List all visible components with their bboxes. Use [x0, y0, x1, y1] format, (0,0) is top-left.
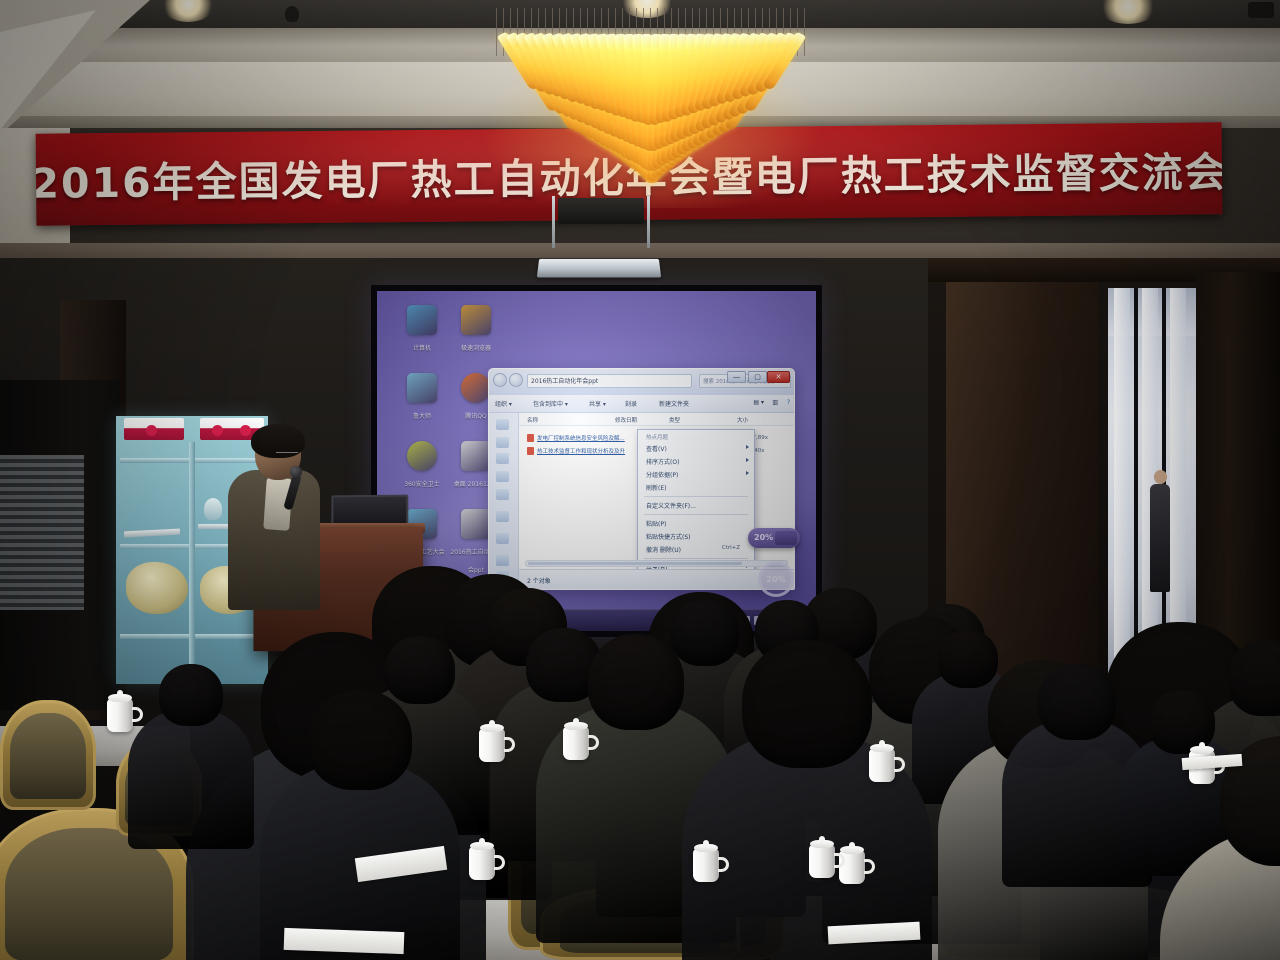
context-menu-item-label: 排序方式(O) — [646, 459, 679, 466]
teacup-knob — [479, 838, 485, 845]
teacup-knob — [819, 836, 825, 843]
explorer-toolbar[interactable]: 组织 ▾包含到库中 ▾共享 ▾刻录新建文件夹▤ ▾▥? — [489, 395, 794, 413]
context-menu-item-6[interactable]: 粘贴快捷方式(S) — [638, 530, 754, 543]
teacup-knob — [879, 740, 885, 747]
teacup-knob — [117, 690, 123, 697]
handout-paper — [284, 928, 405, 954]
cabinet-box-dot-2 — [212, 425, 223, 436]
teacup-knob — [1199, 742, 1205, 749]
cabinet-box-dot-1 — [146, 425, 157, 436]
cabinet-plate-stack — [124, 529, 180, 538]
computer-icon — [407, 305, 437, 335]
context-menu-separator — [644, 558, 748, 559]
audience-member — [682, 640, 932, 960]
windows-explorer-window[interactable]: 2016热工自动化年会ppt 搜索 2016热工自动化年会ppt — ▢ ✕ 组… — [488, 368, 795, 590]
qq-icon — [461, 373, 491, 403]
address-bar[interactable]: 2016热工自动化年会ppt — [527, 374, 692, 388]
file-name: 发电厂控制系统信息安全风险及解... — [537, 434, 625, 442]
desktop-icon-label: 极速浏览器 — [461, 345, 491, 352]
context-menu-separator — [644, 496, 748, 497]
desktop-icon-label: 计算机 — [413, 345, 431, 352]
lobby-person — [1150, 484, 1170, 592]
context-menu-accelerator: Ctrl+Z — [722, 545, 740, 551]
audience-member — [128, 664, 254, 866]
context-menu-item-0[interactable]: 查看(V) — [638, 442, 754, 455]
cpu-percent-label: 20% — [754, 533, 773, 542]
navigation-pane[interactable] — [489, 413, 519, 590]
context-menu-separator — [644, 514, 748, 515]
nav-pane-item-7[interactable] — [496, 555, 509, 566]
audience-member-head — [588, 634, 684, 730]
horizontal-scrollbar[interactable] — [525, 560, 788, 567]
teacup-knob — [489, 720, 495, 727]
audience-member-body — [128, 709, 254, 849]
context-menu-item-label: 查看(V) — [646, 446, 667, 453]
ceiling-speaker — [285, 6, 299, 22]
presenter-glasses — [276, 452, 298, 458]
teacup — [560, 718, 594, 762]
change-view-icon[interactable]: ▤ ▾ — [753, 399, 764, 406]
context-menu-item-label: 分组依据(P) — [646, 472, 678, 479]
cabinet-vase — [204, 498, 222, 520]
toolbar-item-0[interactable]: 组织 ▾ — [495, 399, 512, 408]
context-menu-items[interactable]: 查看(V)排序方式(O)分组依据(P)刷新(E)自定义文件夹(F)...粘贴(P… — [638, 442, 754, 590]
teacup — [866, 740, 900, 784]
teacup — [806, 836, 840, 880]
toolbar-item-4[interactable]: 新建文件夹 — [659, 399, 689, 408]
column-header-2[interactable]: 类型 — [669, 416, 680, 424]
folder-icon — [461, 441, 491, 471]
teacup-body — [693, 849, 719, 882]
context-menu-separator — [644, 589, 748, 590]
desktop-icon-label: 鲁大师 — [413, 413, 431, 420]
context-menu-item-7[interactable]: 撤消 删除(U)Ctrl+Z — [638, 543, 754, 556]
desktop-icon-1[interactable]: 极速浏览器 — [449, 305, 503, 355]
projector-bracket-box — [558, 198, 644, 224]
forward-button[interactable] — [509, 373, 523, 387]
conference-hall-scene: 2016年全国发电厂热工自动化年会暨电厂热工技术监督交流会 计算机极 — [0, 0, 1280, 960]
teacup — [690, 840, 724, 884]
teacup-body — [107, 699, 133, 732]
nav-pane-item-6[interactable] — [496, 533, 509, 544]
context-menu-item-label: 粘贴快捷方式(S) — [646, 534, 691, 541]
back-button[interactable] — [493, 373, 507, 387]
lobby-person-head — [1154, 470, 1167, 484]
ceiling-projector — [537, 259, 661, 278]
column-header-1[interactable]: 修改日期 — [615, 416, 637, 424]
chevron-right-icon — [746, 458, 749, 462]
teacup — [476, 720, 510, 764]
context-menu-item-label: 撤消 删除(U) — [646, 547, 681, 554]
desktop-icon-2[interactable]: 鲁大师 — [395, 373, 449, 423]
teacup-body — [809, 845, 835, 878]
cabinet-coral-left — [126, 562, 188, 614]
teacup-body — [469, 847, 495, 880]
toolbar-item-2[interactable]: 共享 ▾ — [589, 399, 606, 408]
audience-member-head — [308, 690, 412, 790]
file-row[interactable]: 热工技术监督工作和现状分析及及升 — [527, 446, 625, 456]
projector-arm-left — [552, 196, 555, 248]
nav-pane-item-0[interactable] — [496, 419, 509, 430]
context-menu-item-label: 粘贴(P) — [646, 521, 666, 528]
projector-arm-right — [647, 196, 650, 248]
desktop-icon-label: 360安全卫士 — [404, 481, 439, 488]
nav-pane-item-5[interactable] — [496, 511, 509, 522]
banquet-chair — [0, 700, 96, 810]
column-headers[interactable]: 名称修改日期类型大小 — [519, 413, 794, 426]
audience-member-head — [1038, 664, 1116, 740]
cpu-meter-gadget[interactable]: 20% — [748, 528, 800, 548]
context-menu-item-label: 刷新(E) — [646, 485, 666, 492]
teacup-knob — [573, 718, 579, 725]
folder-icon — [461, 509, 491, 539]
desktop-icon-0[interactable]: 计算机 — [395, 305, 449, 355]
chair-back-cushion — [10, 713, 87, 799]
chevron-right-icon — [746, 445, 749, 449]
browser-icon — [461, 305, 491, 335]
context-menu-item-5[interactable]: 粘贴(P) — [638, 517, 754, 530]
ceiling-sprinkler — [1248, 2, 1274, 18]
teacup — [104, 690, 138, 734]
file-name: 热工技术监督工作和现状分析及及升 — [537, 447, 625, 455]
cpu-gadget-chip — [775, 531, 797, 545]
explorer-body: 名称修改日期类型大小 发电厂控制系统信息安全风险及解......soft Pow… — [489, 413, 794, 590]
context-menu-header: 热点月题 — [638, 432, 754, 442]
powerpoint-file-icon — [527, 447, 534, 455]
teacup-knob — [849, 842, 855, 849]
context-menu-item-2[interactable]: 分组依据(P) — [638, 468, 754, 481]
nav-pane-item-4[interactable] — [496, 489, 509, 500]
minimize-button[interactable]: — — [727, 371, 746, 383]
powerpoint-file-icon — [527, 434, 534, 442]
preview-pane-icon[interactable]: ▥ — [772, 399, 778, 406]
microphone-head — [290, 466, 302, 478]
close-button[interactable]: ✕ — [767, 371, 790, 383]
teacup-body — [869, 749, 895, 782]
context-menu-item-1[interactable]: 排序方式(O) — [638, 455, 754, 468]
toolbar-item-3[interactable]: 刻录 — [625, 399, 637, 408]
window-blind — [0, 455, 84, 610]
chevron-right-icon — [746, 471, 749, 475]
explorer-title-bar[interactable]: 2016热工自动化年会ppt 搜索 2016热工自动化年会ppt — ▢ ✕ — [489, 369, 794, 395]
nav-pane-item-1[interactable] — [496, 437, 509, 448]
audience-member-head — [159, 664, 223, 726]
desktop-icon-label: 腾讯QQ — [465, 413, 486, 420]
projector-mount — [548, 196, 654, 248]
context-menu-item-label: 自定义文件夹(F)... — [646, 503, 696, 510]
context-menu-item-3[interactable]: 刷新(E) — [638, 481, 754, 494]
recycle-bin-icon — [407, 373, 437, 403]
teacup-knob — [703, 840, 709, 847]
help-icon[interactable]: ? — [787, 399, 790, 406]
column-header-3[interactable]: 大小 — [737, 416, 748, 424]
teacup-body — [479, 729, 505, 762]
audience-member — [260, 690, 460, 960]
column-header-0[interactable]: 名称 — [527, 416, 538, 424]
desktop-icon-4[interactable]: 360安全卫士 — [395, 441, 449, 491]
context-menu-item-4[interactable]: 自定义文件夹(F)... — [638, 499, 754, 512]
audience-member-head — [742, 640, 872, 768]
chandelier — [486, 8, 816, 198]
teacup-body — [563, 727, 589, 760]
nav-pane-item-3[interactable] — [496, 471, 509, 482]
maximize-button[interactable]: ▢ — [748, 371, 767, 383]
file-row[interactable]: 发电厂控制系统信息安全风险及解... — [527, 433, 625, 443]
cabinet-box-dot-3 — [240, 425, 251, 436]
teacup — [466, 838, 500, 882]
toolbar-item-1[interactable]: 包含到库中 ▾ — [533, 399, 568, 408]
nav-pane-item-2[interactable] — [496, 453, 509, 464]
shield-icon — [407, 441, 437, 471]
